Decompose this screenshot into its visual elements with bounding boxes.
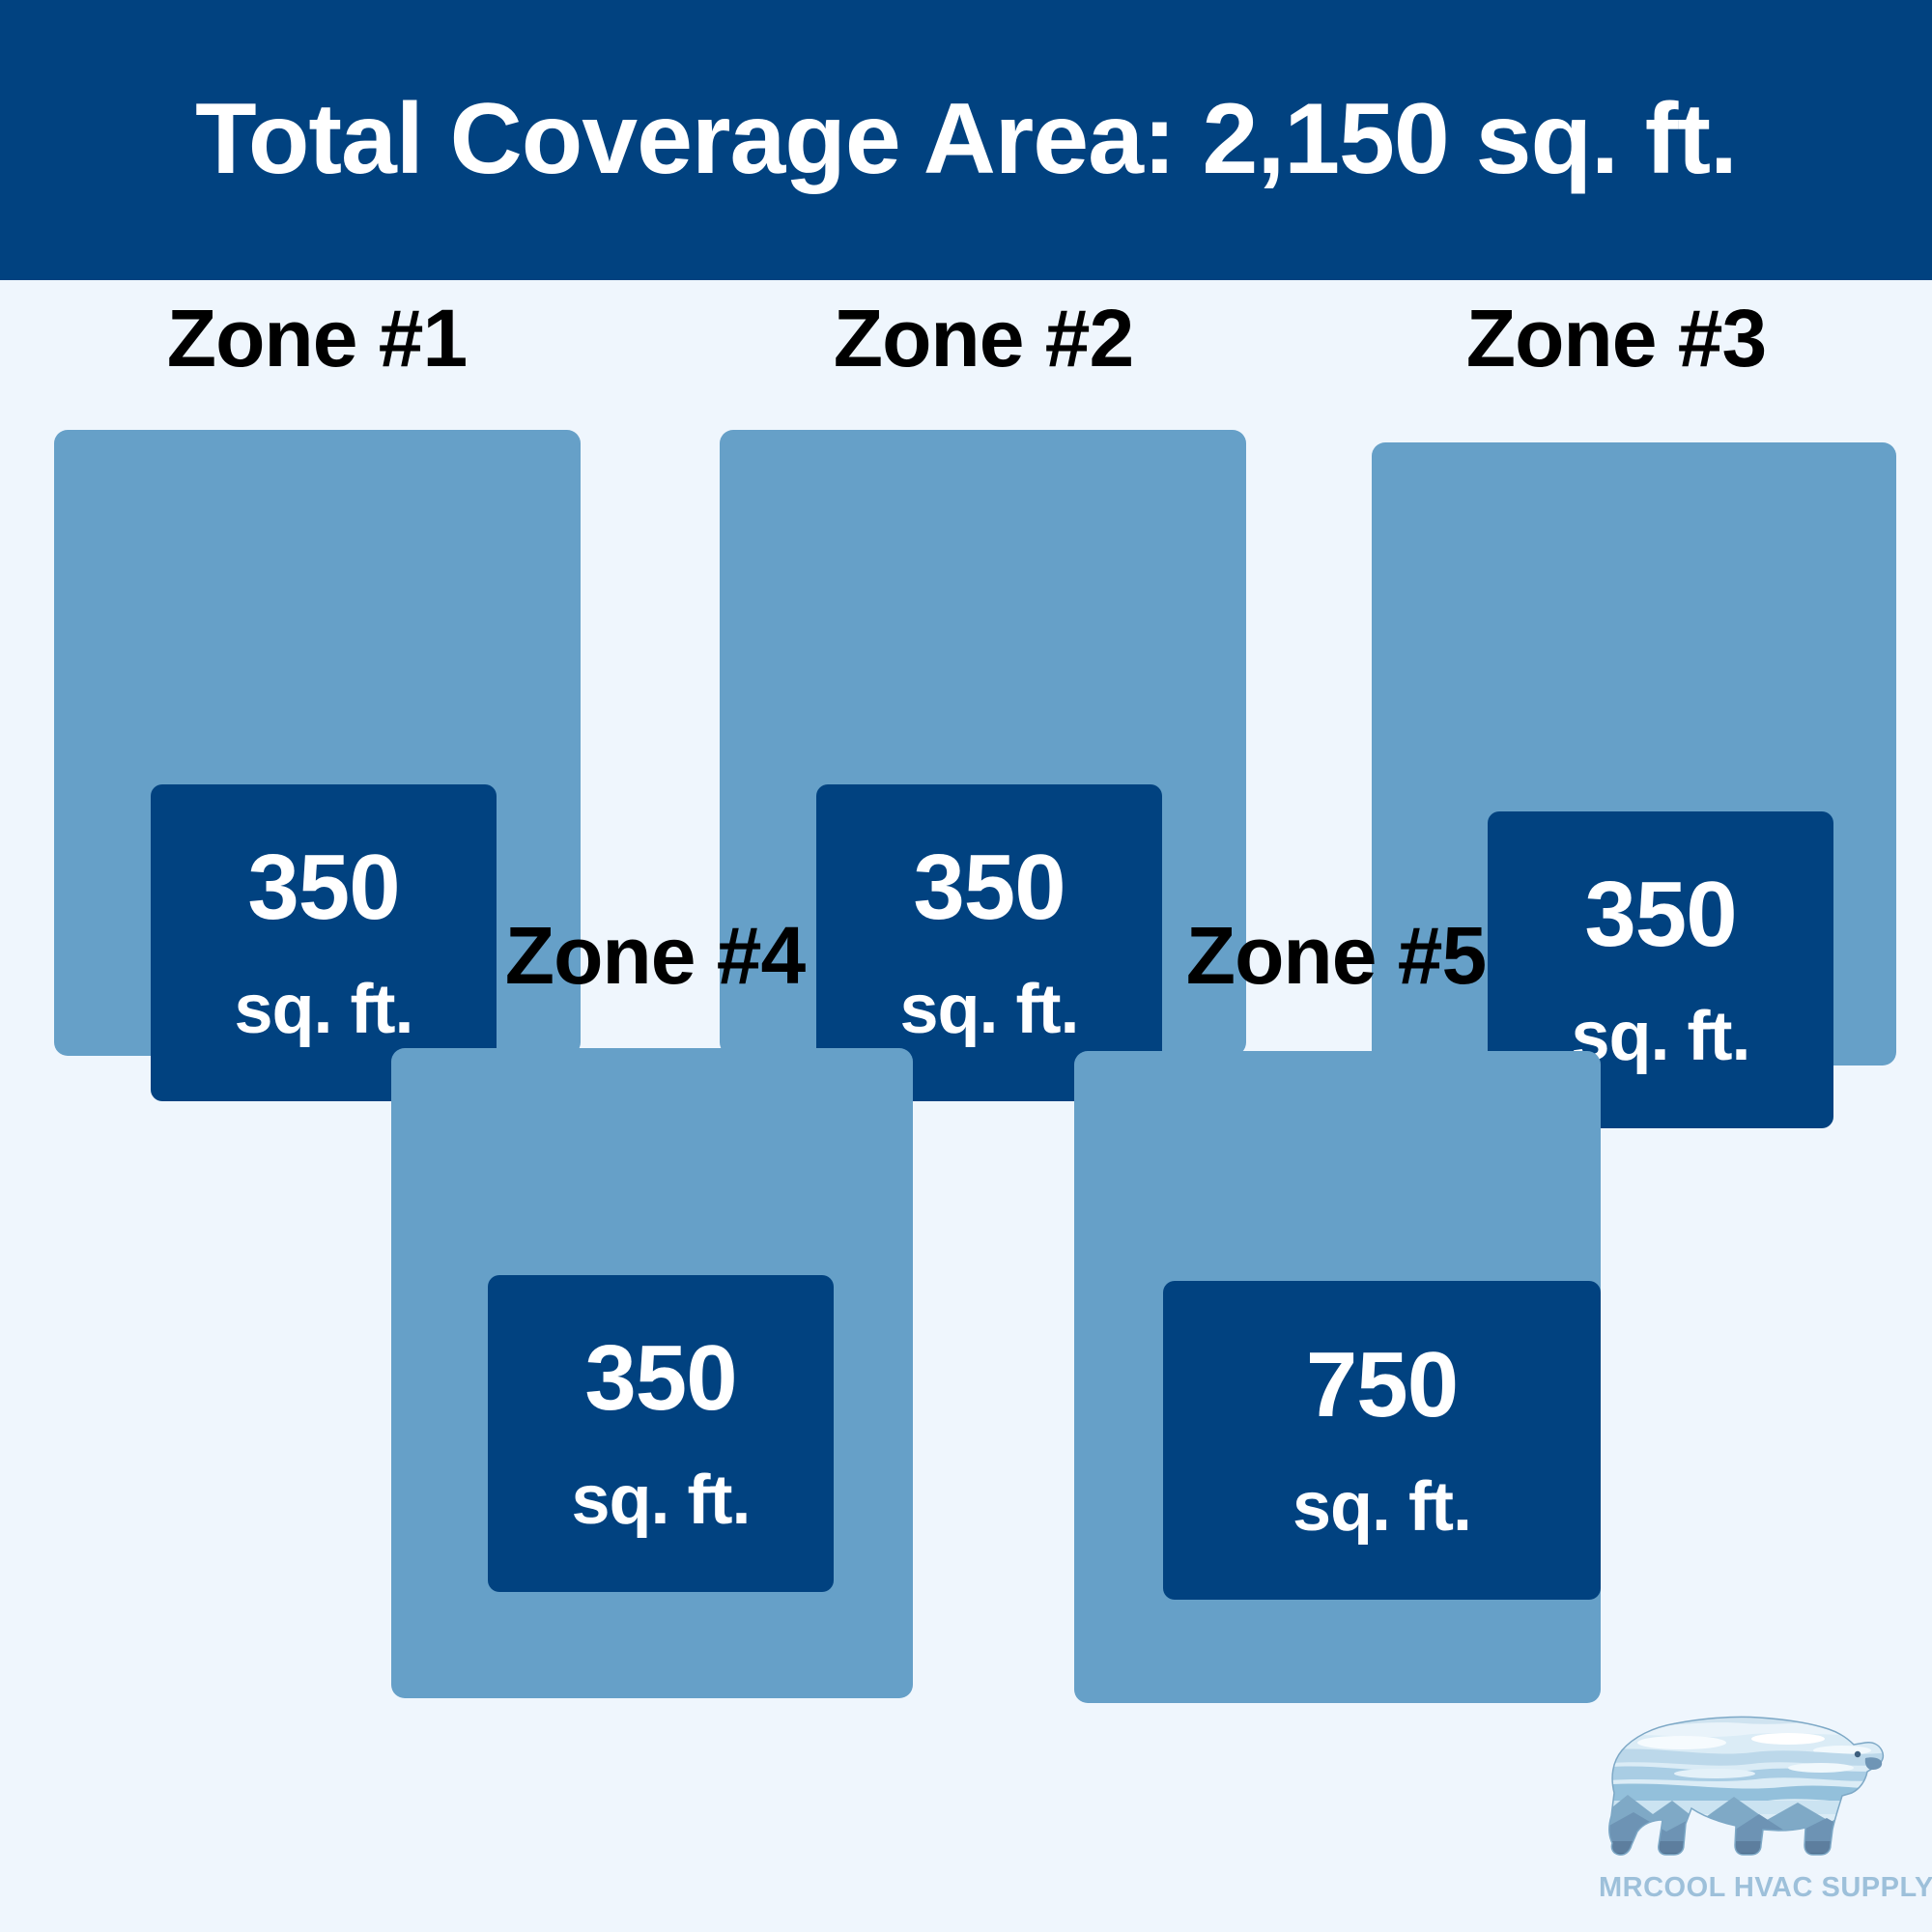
zones-stage: Zone #1 350 sq. ft. Zone #2 350 sq. ft. … (0, 280, 1932, 1932)
zone-unit-5: sq. ft. (1293, 1472, 1471, 1542)
zone-card-5[interactable]: Zone #5 750 sq. ft. (1019, 894, 1653, 1773)
zone-card-4[interactable]: Zone #4 350 sq. ft. (338, 894, 972, 1773)
zone-inner-box-5: 750 sq. ft. (1163, 1281, 1601, 1600)
zone-outer-box-4: 350 sq. ft. (391, 1048, 913, 1698)
page-title: Total Coverage Area: 2,150 sq. ft. (195, 87, 1737, 192)
zone-label-4: Zone #4 (338, 915, 972, 996)
zone-label-3: Zone #3 (1299, 298, 1932, 379)
logo-wordmark: MRCOOL HVAC SUPPLY (1599, 1872, 1903, 1904)
zone-value-4: 350 (584, 1332, 736, 1425)
zone-value-5: 750 (1306, 1339, 1458, 1432)
zone-unit-4: sq. ft. (572, 1465, 751, 1535)
polar-bear-icon (1599, 1700, 1889, 1869)
zone-outer-box-5: 750 sq. ft. (1074, 1051, 1601, 1703)
zone-label-1: Zone #1 (0, 298, 634, 379)
brand-logo: MRCOOL HVAC SUPPLY (1599, 1700, 1918, 1922)
zone-inner-box-4: 350 sq. ft. (488, 1275, 834, 1592)
zone-label-5: Zone #5 (1019, 915, 1653, 996)
zone-label-2: Zone #2 (667, 298, 1300, 379)
header-banner: Total Coverage Area: 2,150 sq. ft. (0, 0, 1932, 280)
